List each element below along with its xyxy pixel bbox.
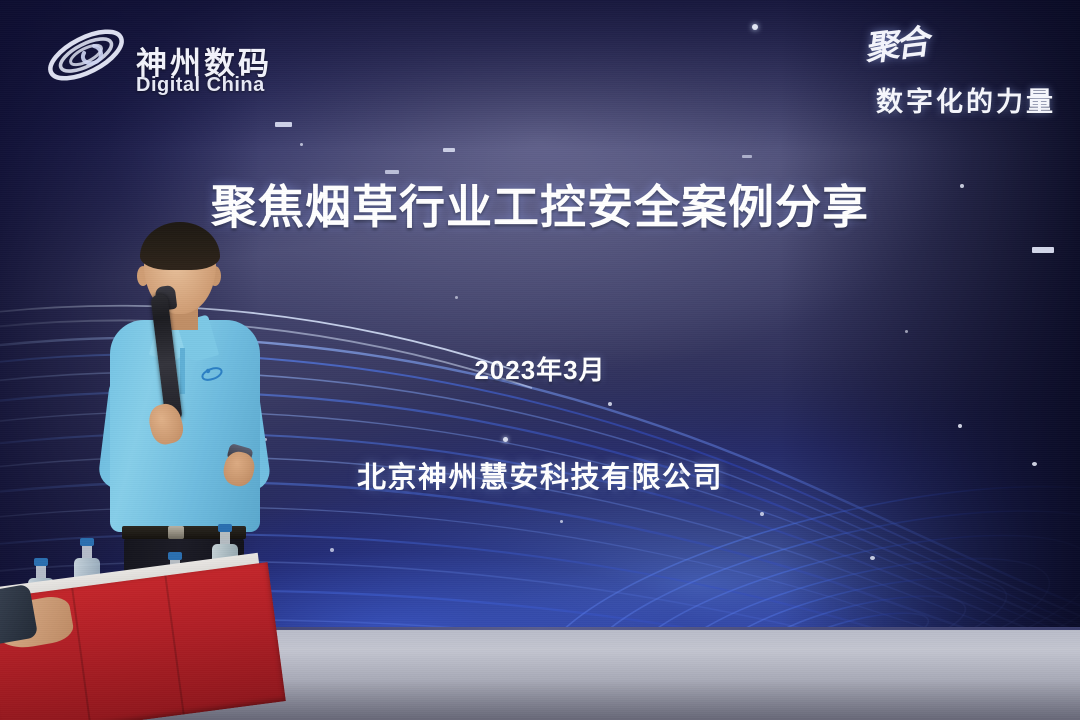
particle-dot [503, 437, 508, 442]
particle-dot [560, 520, 563, 523]
particle-dash [1032, 247, 1054, 253]
particle-dot [300, 143, 303, 146]
particle-dot [608, 402, 612, 406]
conference-stage-photo: 神州数码 Digital China 聚合 数字化的力量 聚焦烟草行业工控安全案… [0, 0, 1080, 720]
particle-dot [330, 548, 334, 552]
slogan-subtitle: 数字化的力量 [876, 80, 1056, 119]
speaker-shirt-placket [180, 348, 185, 394]
particle-dot [905, 330, 908, 333]
event-slogan: 聚合 数字化的力量 [786, 18, 1056, 118]
slogan-calligraphy: 聚合 [861, 14, 929, 70]
logo-english-name: Digital China [136, 74, 265, 97]
particle-dot [455, 296, 458, 299]
speaker-belt-buckle [168, 526, 184, 539]
particle-dot [870, 556, 875, 560]
speaker-hair [140, 222, 220, 270]
particle-dot [760, 512, 764, 516]
particle-dash [742, 155, 752, 158]
particle-dot [752, 24, 758, 30]
particle-dash [385, 170, 399, 174]
particle-dot [958, 424, 962, 428]
particle-dash [443, 148, 455, 152]
spiral-swirl-icon [44, 18, 128, 92]
company-badge-icon [200, 364, 224, 384]
digital-china-logo: 神州数码 Digital China [44, 16, 314, 96]
particle-dash [275, 122, 292, 127]
